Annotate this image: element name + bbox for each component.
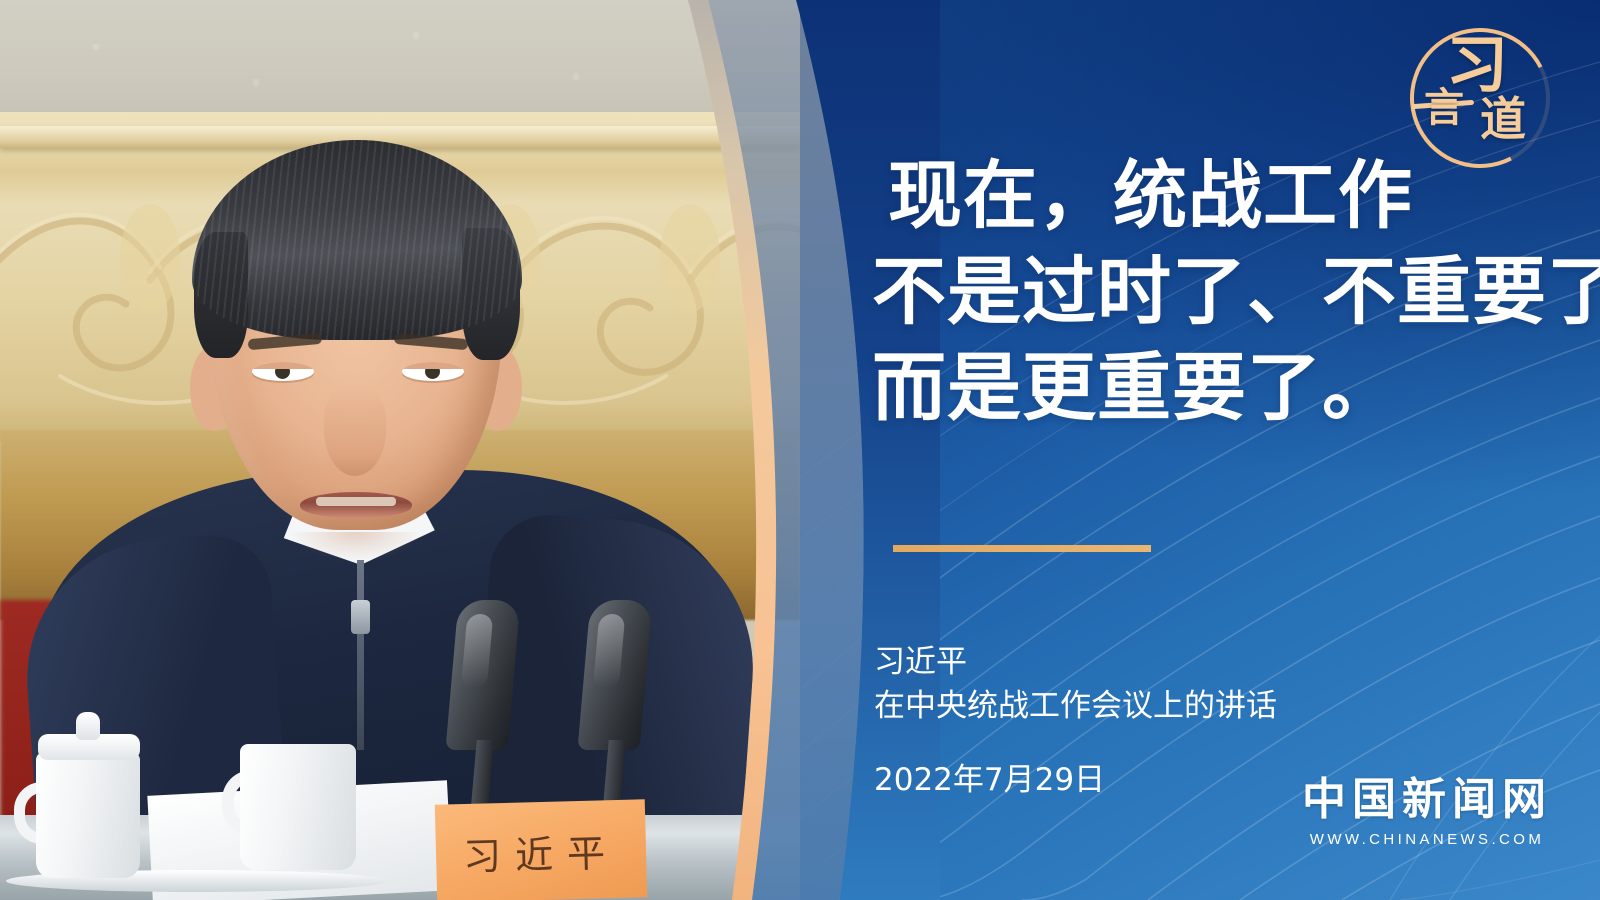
water-mug-body xyxy=(240,744,356,870)
quote-block: 现在，统战工作 不是过时了、不重要了， 而是更重要了。 xyxy=(866,148,1590,437)
jacket-zipper xyxy=(357,560,364,750)
desk-nameplate: 习近平 xyxy=(435,799,647,900)
mouth xyxy=(300,492,412,518)
eye-left xyxy=(252,362,314,381)
eyelid-right xyxy=(402,362,464,369)
watermark-name: 中国新闻网 xyxy=(1302,778,1552,822)
quote-line-2: 不是过时了、不重要了， xyxy=(872,244,1590,340)
logo-char-dao: 道 xyxy=(1480,96,1526,142)
hair-side-right xyxy=(462,228,520,360)
chinanews-watermark[interactable]: 中国新闻网 WWW.CHINANEWS.COM xyxy=(1302,778,1552,848)
portrait-photo: 习近平 xyxy=(0,0,800,900)
quote-line-3: 而是更重要了。 xyxy=(872,340,1590,436)
eye-right xyxy=(402,362,464,381)
portrait-photo-container: 习近平 xyxy=(0,0,820,900)
quote-line-1: 现在，统战工作 xyxy=(888,148,1590,244)
subject-head xyxy=(196,140,516,540)
nose xyxy=(324,384,386,476)
microphone-left-head xyxy=(445,600,520,750)
desk-nameplate-text: 习近平 xyxy=(462,821,619,880)
eyelid-left xyxy=(252,362,314,369)
lidded-teacup xyxy=(28,708,148,878)
hair xyxy=(192,140,522,340)
microphone-right-head xyxy=(577,600,652,750)
hair-side-left xyxy=(194,232,248,358)
meeting-room-wall xyxy=(0,0,800,118)
attribution-occasion: 在中央统战工作会议上的讲话 xyxy=(874,684,1474,728)
teacup-body xyxy=(36,752,140,878)
teacup-lid-knob xyxy=(76,712,100,740)
watermark-url: WWW.CHINANEWS.COM xyxy=(1302,831,1552,848)
water-mug xyxy=(226,744,356,872)
logo-char-yan: 言 xyxy=(1424,88,1464,128)
poster-canvas: 习近平 xyxy=(0,0,1600,900)
attribution-speaker: 习近平 xyxy=(874,640,1474,684)
gold-divider-rule xyxy=(893,545,1151,552)
chin-shadow xyxy=(266,532,446,572)
teeth xyxy=(316,497,396,506)
